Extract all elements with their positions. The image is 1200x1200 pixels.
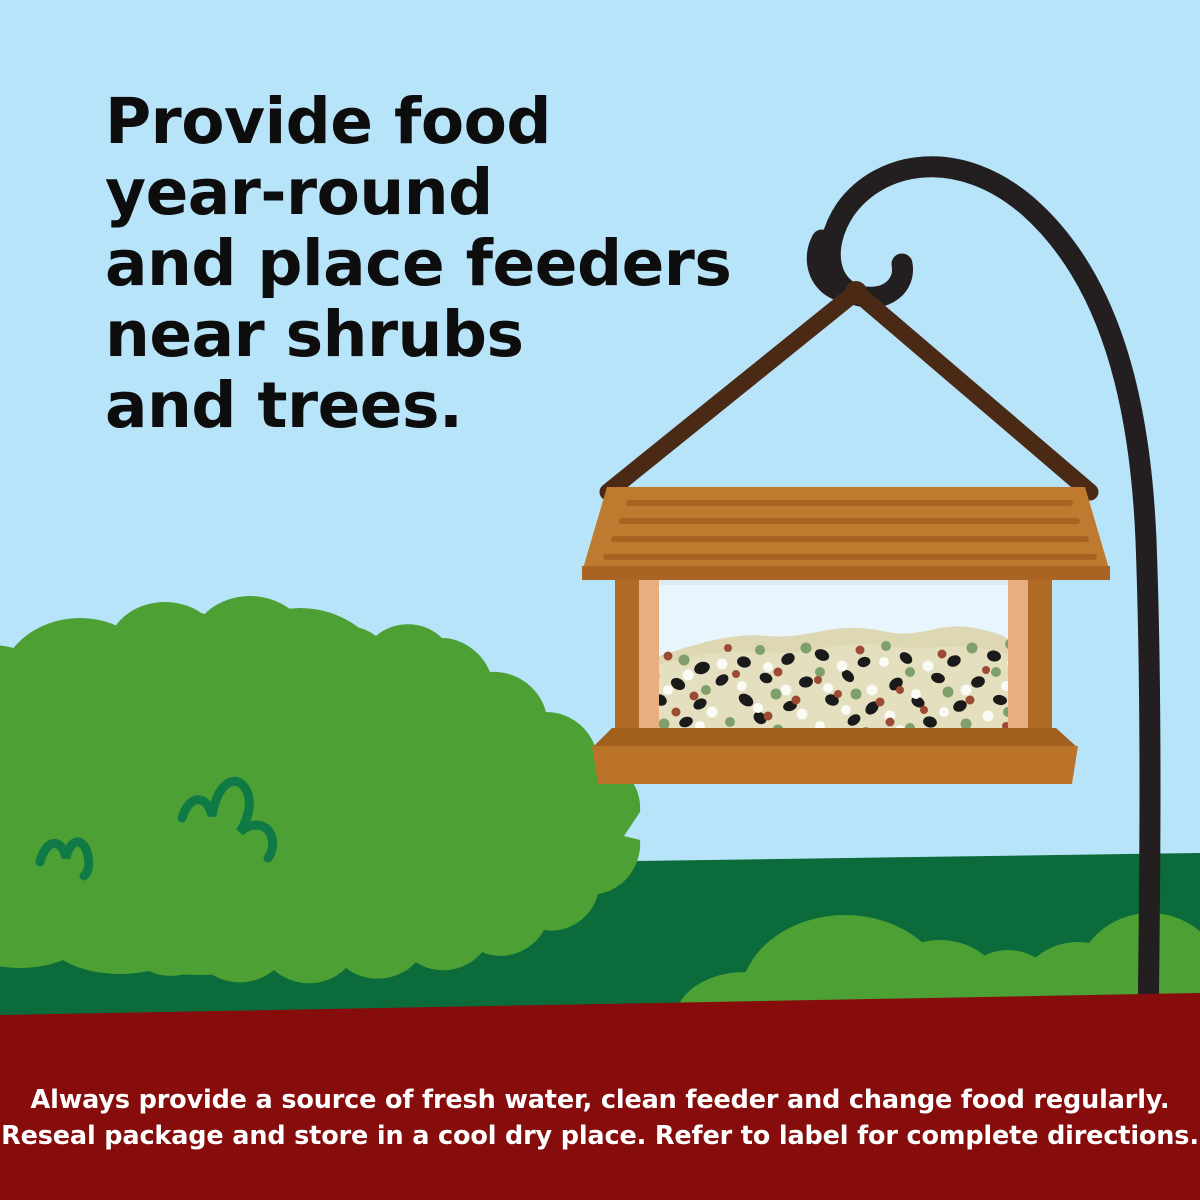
feeder-post-right — [1028, 578, 1052, 740]
red-footer-band — [0, 993, 1200, 1200]
poster-canvas: Provide food year-round and place feeder… — [0, 0, 1200, 1200]
rope-knot — [845, 281, 867, 303]
feeder-roof-edge — [582, 566, 1110, 580]
feeder-post-left — [615, 578, 639, 740]
feeder-post-right-inner — [1008, 578, 1030, 734]
illustration-scene — [0, 0, 1200, 1200]
bird-feeder — [582, 487, 1110, 784]
feeder-base — [592, 746, 1078, 784]
feeder-base-rim — [592, 728, 1078, 748]
glass-top-shade — [638, 580, 1010, 585]
feeder-post-left-inner — [637, 578, 659, 734]
